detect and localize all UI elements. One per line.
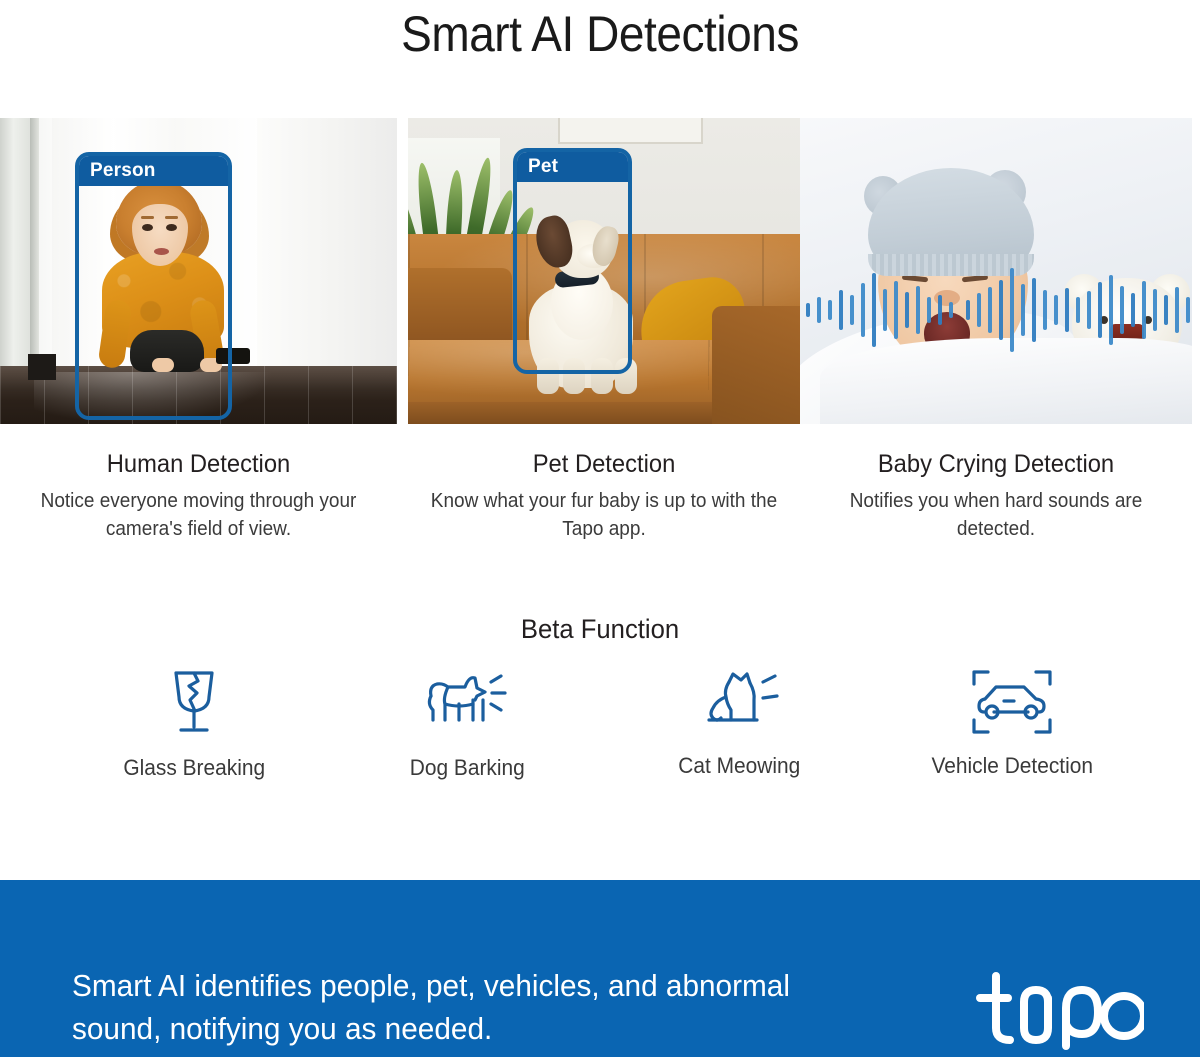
beta-item-cat-meowing[interactable]: Cat Meowing <box>603 666 876 782</box>
footer-banner: Smart AI identifies people, pet, vehicle… <box>0 880 1200 1057</box>
detection-box-person: Person <box>75 152 232 420</box>
caption-title: Baby Crying Detection <box>810 448 1182 480</box>
beta-item-label: Vehicle Detection <box>882 752 1141 780</box>
detection-box-person-label: Person <box>79 156 228 186</box>
feature-image-baby-crying-detection <box>800 118 1192 424</box>
tapo-logo: tapo <box>974 972 1144 1052</box>
beta-item-glass-breaking[interactable]: Glass Breaking <box>58 666 331 782</box>
beta-function-list: Glass Breaking Dog Barking Cat <box>58 666 1148 782</box>
footer-tagline: Smart AI identifies people, pet, vehicle… <box>72 964 821 1050</box>
caption-spacer <box>397 448 408 543</box>
caption-pet-detection: Pet Detection Know what your fur baby is… <box>408 448 800 543</box>
cat-meowing-icon <box>603 666 876 738</box>
photo-baby-waveform <box>800 118 1192 424</box>
caption-human-detection: Human Detection Notice everyone moving t… <box>0 448 397 543</box>
beta-item-dog-barking[interactable]: Dog Barking <box>331 666 604 782</box>
caption-description: Know what your fur baby is up to with th… <box>418 487 790 543</box>
feature-image-pet-detection: Pet <box>408 118 800 424</box>
caption-title: Human Detection <box>10 448 387 480</box>
feature-tiles: Person <box>0 118 1200 424</box>
broken-glass-icon <box>58 666 331 738</box>
beta-function-title: Beta Function <box>30 610 1170 648</box>
caption-title: Pet Detection <box>418 448 790 480</box>
feature-image-human-detection: Person <box>0 118 397 424</box>
detection-box-pet: Pet <box>513 148 632 374</box>
caption-description: Notifies you when hard sounds are detect… <box>810 487 1182 543</box>
page-title: Smart AI Detections <box>48 2 1152 66</box>
dog-barking-icon <box>331 666 604 738</box>
caption-baby-crying-detection: Baby Crying Detection Notifies you when … <box>800 448 1192 543</box>
beta-item-vehicle-detection[interactable]: Vehicle Detection <box>876 666 1149 782</box>
caption-description: Notice everyone moving through your came… <box>10 487 387 543</box>
beta-item-label: Dog Barking <box>337 754 596 782</box>
detection-box-pet-label: Pet <box>517 152 628 182</box>
feature-captions: Human Detection Notice everyone moving t… <box>0 448 1200 543</box>
beta-item-label: Cat Meowing <box>610 752 869 780</box>
vehicle-detection-icon <box>876 666 1149 738</box>
beta-item-label: Glass Breaking <box>65 754 324 782</box>
tile-divider <box>397 118 408 424</box>
